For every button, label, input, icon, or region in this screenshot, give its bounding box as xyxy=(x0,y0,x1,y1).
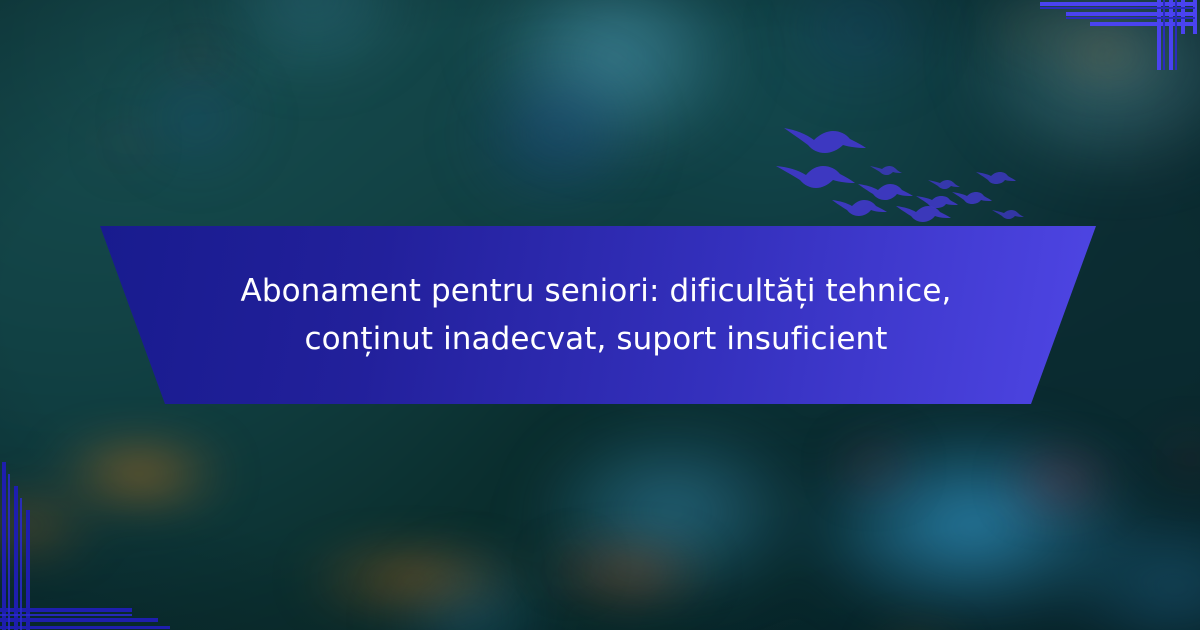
headline-banner: Abonament pentru seniori: dificultăți te… xyxy=(96,226,1096,404)
page-title: Abonament pentru seniori: dificultăți te… xyxy=(196,267,996,363)
birds-flock-icon xyxy=(770,112,1030,232)
social-share-card: Abonament pentru seniori: dificultăți te… xyxy=(0,0,1200,630)
